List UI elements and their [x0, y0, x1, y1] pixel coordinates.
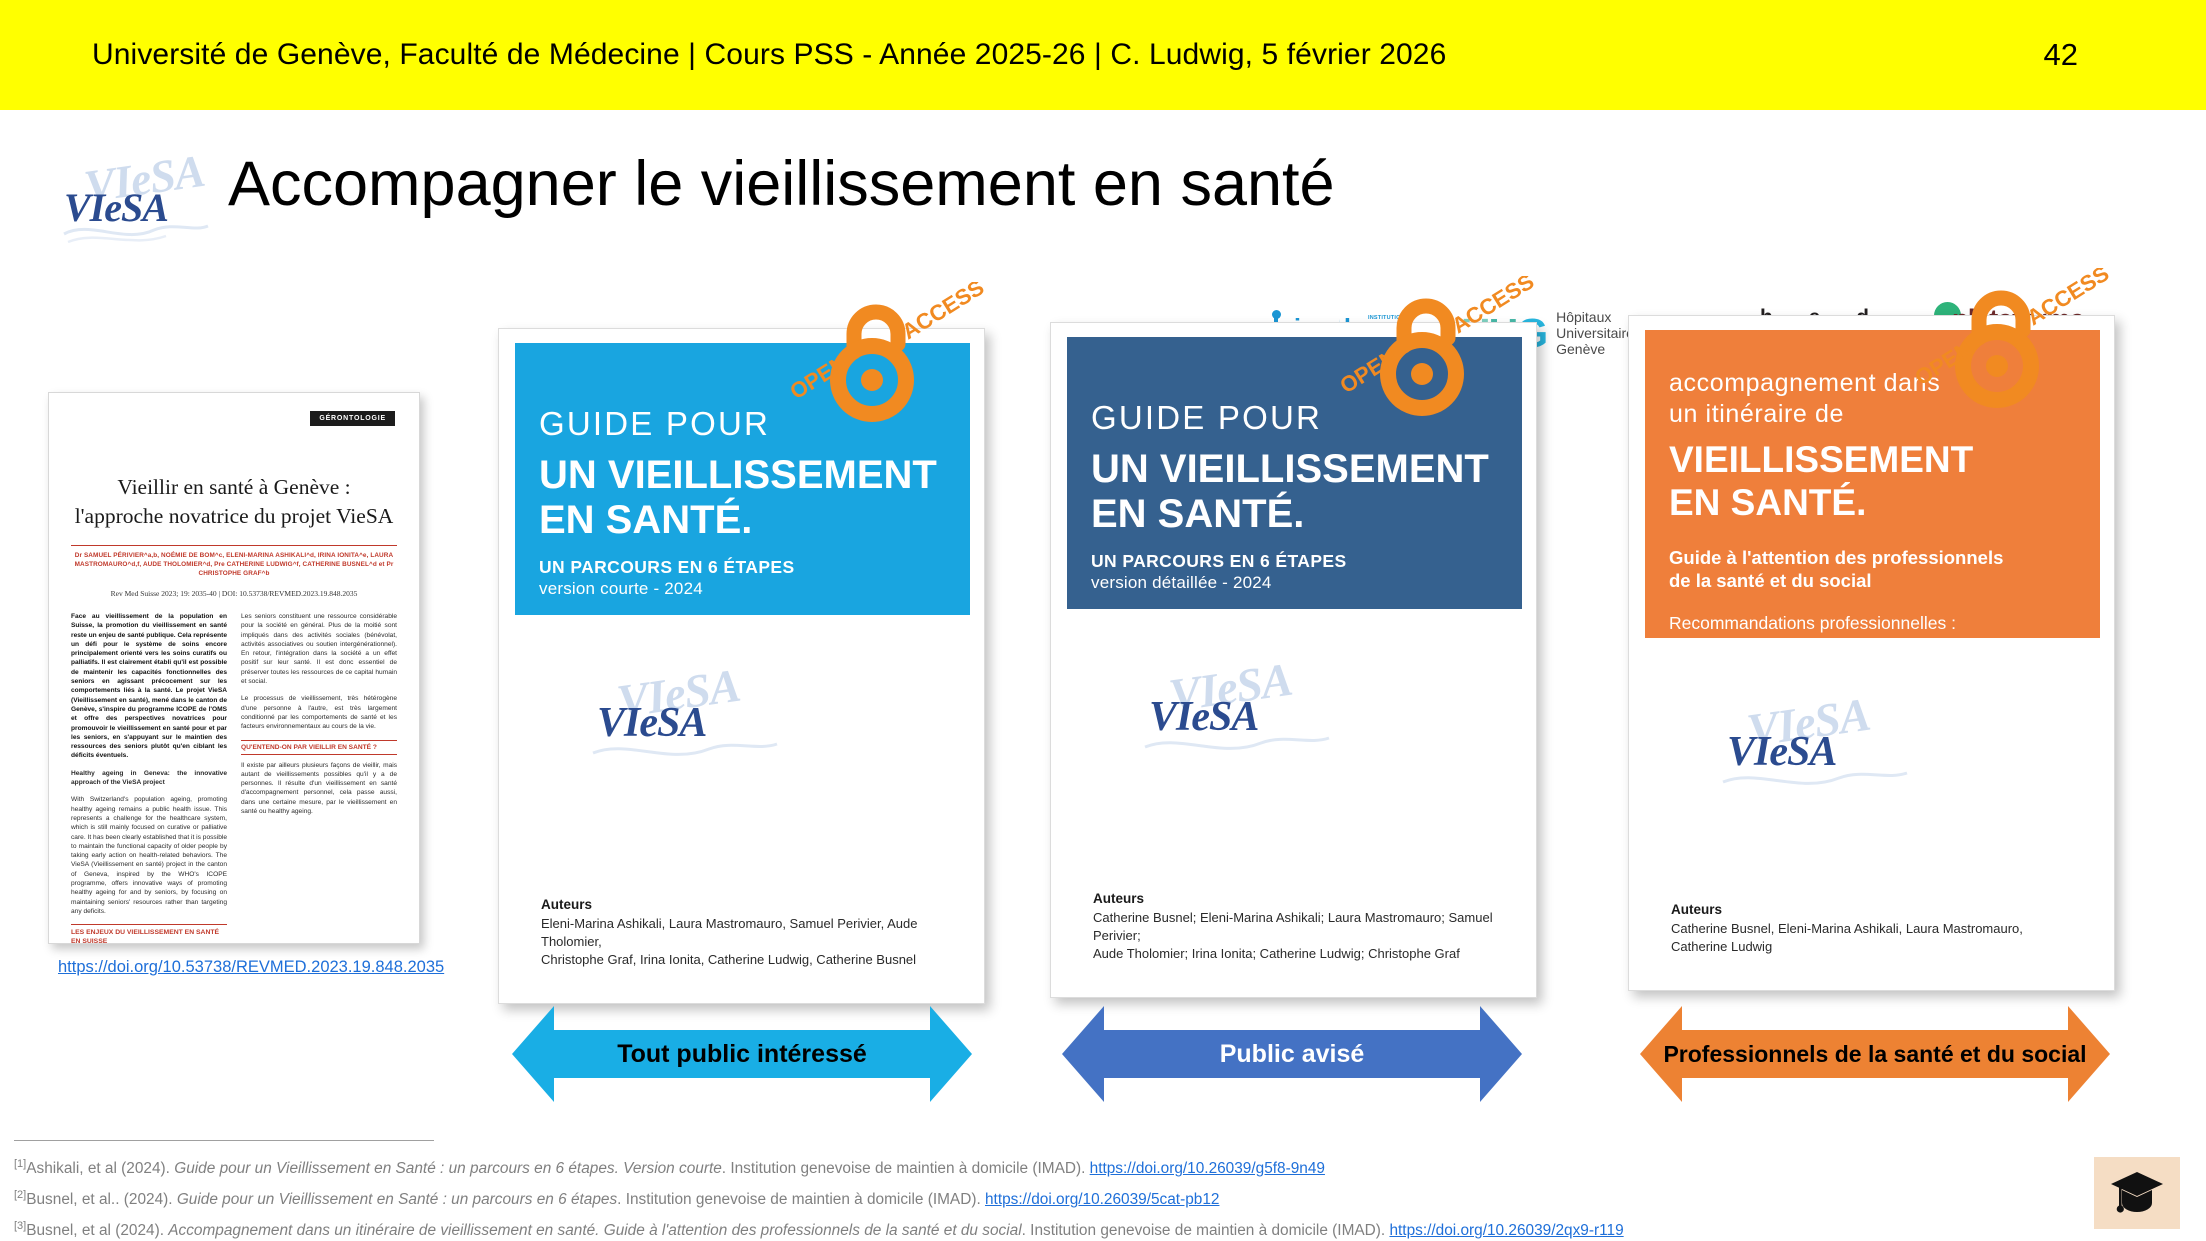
cover-3-main-line-2: EN SANTÉ. [1669, 481, 2076, 524]
footnote-1: [1]Ashikali, et al (2024). Guide pour un… [14, 1151, 2054, 1182]
cover-1-main-line-1: UN VIEILLISSEMENT [539, 453, 946, 498]
cover-1-authors-line-2: Christophe Graf, Irina Ionita, Catherine… [541, 951, 941, 969]
cover-2-authors-line-2: Aude Tholomier; Irina Ionita; Catherine … [1093, 945, 1493, 963]
cover-3-guide-line-2: de la santé et du social [1669, 569, 2076, 592]
graduation-cap-badge[interactable] [2094, 1157, 2180, 1229]
footnote-2: [2]Busnel, et al.. (2024). Guide pour un… [14, 1182, 2054, 1213]
title-row: VIeSA VIeSA Accompagner le vieillissemen… [0, 140, 2206, 260]
article-title-line-2: l'approche novatrice du projet VieSA [71, 502, 397, 531]
article-doi-link[interactable]: https://doi.org/10.53738/REVMED.2023.19.… [58, 958, 444, 977]
viesa-logo: VIeSA VIeSA [62, 166, 212, 242]
article-title: Vieillir en santé à Genève : l'approche … [71, 473, 397, 531]
footnote-3: [3]Busnel, et al (2024). Accompagnement … [14, 1213, 2054, 1241]
footnote-2-prefix: Busnel, et al.. (2024). [26, 1191, 177, 1208]
footnote-3-italic: Accompagnement dans un itinéraire de vie… [168, 1222, 1021, 1239]
article-col1-section-heading: LES ENJEUX DU VIEILLISSEMENT EN SANTÉ EN… [71, 924, 227, 944]
article-column-left: Face au vieillissement de la population … [71, 612, 227, 944]
footnote-1-link[interactable]: https://doi.org/10.26039/g5f8-9n49 [1090, 1160, 1325, 1177]
cover-1-subtitle-2: version courte - 2024 [539, 579, 946, 599]
article-col1-heading: Healthy ageing in Geneva: the innovative… [71, 769, 227, 788]
cover-2-main-line-2: EN SANTÉ. [1091, 492, 1498, 537]
footnote-2-suffix: . Institution genevoise de maintien à do… [617, 1191, 985, 1208]
audience-arrow-professionnels: Professionnels de la santé et du social [1640, 1004, 2110, 1104]
footnote-2-link[interactable]: https://doi.org/10.26039/5cat-pb12 [985, 1191, 1219, 1208]
cover-2-authors: Auteurs Catherine Busnel; Eleni-Marina A… [1093, 891, 1493, 963]
article-section-badge: GÉRONTOLOGIE [310, 411, 395, 426]
header-course-info: Université de Genève, Faculté de Médecin… [92, 38, 1446, 72]
cover-2-viesa-swash [1143, 729, 1333, 759]
article-authors: Dr SAMUEL PÉRIVIER^a,b, NOÉMIE DE BOM^c,… [71, 545, 397, 578]
cover-3-viesa-logo: VIeSA VIeSA [1721, 708, 1911, 808]
cover-1-authors-line-1: Eleni-Marina Ashikali, Laura Mastromauro… [541, 915, 941, 951]
cover-1-kicker: GUIDE POUR [539, 405, 946, 443]
cover-1-subtitle-1: UN PARCOURS EN 6 ÉTAPES [539, 557, 946, 578]
cover-2-authors-label: Auteurs [1093, 891, 1493, 906]
cover-1-authors: Auteurs Eleni-Marina Ashikali, Laura Mas… [541, 897, 941, 969]
footnote-3-link[interactable]: https://doi.org/10.26039/2qx9-r119 [1389, 1222, 1623, 1239]
cover-3-authors: Auteurs Catherine Busnel, Eleni-Marina A… [1671, 902, 2071, 956]
cover-2-main-line-1: UN VIEILLISSEMENT [1091, 447, 1498, 492]
footnote-2-marker: [2] [14, 1189, 26, 1201]
footnote-1-italic: Guide pour un Vieillissement en Santé : … [174, 1160, 722, 1177]
viesa-logo-swash [62, 218, 212, 244]
guide-cover-professionals[interactable]: accompagnement dans un itinéraire de VIE… [1628, 315, 2115, 991]
article-col1-p1: Face au vieillissement de la population … [71, 612, 227, 761]
cover-2-subtitle-2: version détaillée - 2024 [1091, 573, 1498, 593]
footnote-1-marker: [1] [14, 1158, 26, 1170]
audience-arrow-label-1: Tout public intéressé [512, 1004, 972, 1104]
cover-1-color-band: GUIDE POUR UN VIEILLISSEMENT EN SANTÉ. U… [515, 343, 970, 615]
footnote-1-prefix: Ashikali, et al (2024). [26, 1160, 174, 1177]
guide-cover-detailed-version[interactable]: GUIDE POUR UN VIEILLISSEMENT EN SANTÉ. U… [1050, 322, 1537, 998]
article-col2-section-heading: QU'ENTEND-ON PAR VIEILLIR EN SANTÉ ? [241, 740, 397, 755]
cover-3-kicker-line-1: accompagnement dans [1669, 368, 2076, 399]
article-col2-p3: Il existe par ailleurs plusieurs façons … [241, 761, 397, 817]
footnote-3-suffix: . Institution genevoise de maintien à do… [1022, 1222, 1390, 1239]
article-col2-p2: Le processus de vieillissement, très hét… [241, 694, 397, 731]
page-title: Accompagner le vieillissement en santé [228, 148, 1335, 220]
cover-3-guide-line-1: Guide à l'attention des professionnels [1669, 546, 2076, 569]
cover-3-rec-line-3: modalités et outillage [1669, 656, 2076, 678]
cover-3-authors-line-1: Catherine Busnel, Eleni-Marina Ashikali,… [1671, 920, 2071, 956]
cover-3-viesa-swash [1721, 764, 1911, 794]
footnote-1-suffix: . Institution genevoise de maintien à do… [722, 1160, 1090, 1177]
cover-3-kicker-line-2: un itinéraire de [1669, 399, 2076, 430]
cover-2-text-block: GUIDE POUR UN VIEILLISSEMENT EN SANTÉ. U… [1067, 337, 1522, 593]
cover-2-authors-line-1: Catherine Busnel; Eleni-Marina Ashikali;… [1093, 909, 1493, 945]
audience-arrow-label-2: Public avisé [1062, 1004, 1522, 1104]
graduation-cap-icon [2110, 1169, 2164, 1217]
cover-2-subtitle-1: UN PARCOURS EN 6 ÉTAPES [1091, 551, 1498, 572]
article-col1-p2: With Switzerland's population ageing, pr… [71, 795, 227, 916]
guide-cover-short-version[interactable]: GUIDE POUR UN VIEILLISSEMENT EN SANTÉ. U… [498, 328, 985, 1004]
footnote-3-prefix: Busnel, et al (2024). [26, 1222, 168, 1239]
audience-arrow-tout-public: Tout public intéressé [512, 1004, 972, 1104]
slide: Université de Genève, Faculté de Médecin… [0, 0, 2206, 1241]
slide-page-number: 42 [2044, 37, 2078, 73]
cover-1-text-block: GUIDE POUR UN VIEILLISSEMENT EN SANTÉ. U… [515, 343, 970, 599]
footnotes: [1]Ashikali, et al (2024). Guide pour un… [14, 1140, 2054, 1241]
cover-1-viesa-swash [591, 735, 781, 765]
footnote-divider [14, 1140, 434, 1141]
header-bar: Université de Genève, Faculté de Médecin… [0, 0, 2206, 110]
cover-3-rec-line-2: illustrations, approches conceptuelles, [1669, 634, 2076, 656]
cover-3-main-line-1: VIEILLISSEMENT [1669, 438, 2076, 481]
article-col2-p1: Les seniors constituent une ressource co… [241, 612, 397, 686]
footnote-3-marker: [3] [14, 1220, 26, 1232]
article-title-line-1: Vieillir en santé à Genève : [71, 473, 397, 502]
article-column-right: Les seniors constituent une ressource co… [241, 612, 397, 944]
cover-3-rec-line-1: Recommandations professionnelles : [1669, 612, 2076, 634]
cover-2-viesa-logo: VIeSA VIeSA [1143, 673, 1333, 773]
cover-2-color-band: GUIDE POUR UN VIEILLISSEMENT EN SANTÉ. U… [1067, 337, 1522, 609]
cover-2-kicker: GUIDE POUR [1091, 399, 1498, 437]
article-columns: Face au vieillissement de la population … [71, 612, 397, 944]
cover-3-authors-label: Auteurs [1671, 902, 2071, 917]
cover-3-text-block: accompagnement dans un itinéraire de VIE… [1645, 330, 2100, 678]
article-thumbnail[interactable]: GÉRONTOLOGIE Vieillir en santé à Genève … [48, 392, 420, 944]
cover-3-color-band: accompagnement dans un itinéraire de VIE… [1645, 330, 2100, 638]
cover-1-authors-label: Auteurs [541, 897, 941, 912]
cover-1-main-line-2: EN SANTÉ. [539, 498, 946, 543]
audience-arrow-label-3: Professionnels de la santé et du social [1640, 1004, 2110, 1104]
audience-arrow-public-avise: Public avisé [1062, 1004, 1522, 1104]
article-reference: Rev Med Suisse 2023; 19: 2035-40 | DOI: … [71, 589, 397, 598]
cover-1-viesa-logo: VIeSA VIeSA [591, 679, 781, 779]
footnote-2-italic: Guide pour un Vieillissement en Santé : … [177, 1191, 617, 1208]
